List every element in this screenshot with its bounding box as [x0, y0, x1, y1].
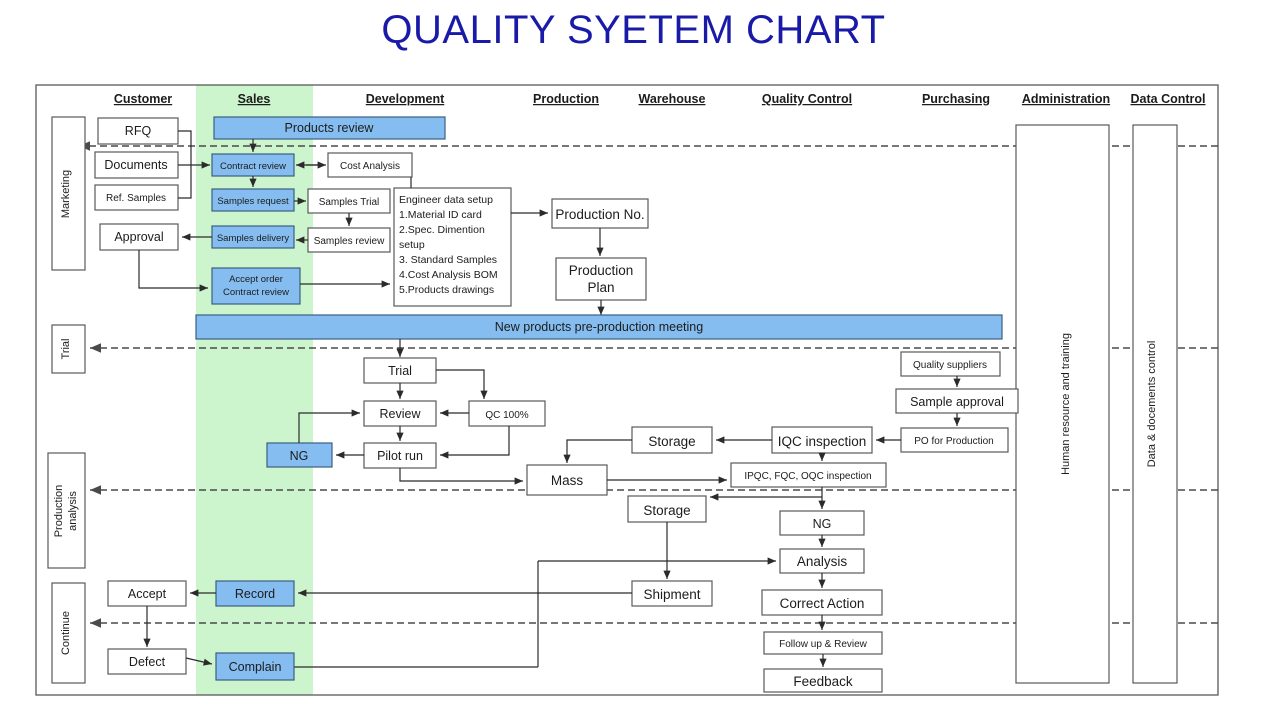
node-label-accept-order: Accept order: [229, 274, 283, 285]
node-label-record: Record: [235, 587, 275, 601]
node-label-samples-delivery: Samples delivery: [217, 233, 290, 244]
node-pre-production-meeting[interactable]: New products pre-production meeting: [196, 315, 1002, 339]
edge-storage-upper-to-mass: [567, 440, 632, 463]
node-label-approval: Approval: [114, 230, 163, 244]
node-pilot-run[interactable]: Pilot run: [364, 443, 436, 468]
node-label-accept: Accept: [128, 587, 167, 601]
node-follow-up-review[interactable]: Follow up & Review: [764, 632, 882, 654]
node-label-qc-100: QC 100%: [485, 410, 528, 421]
node-label-mass: Mass: [551, 473, 584, 488]
node-label-rfq: RFQ: [125, 124, 152, 138]
column-header-data-control: Data Control: [1131, 92, 1206, 106]
node-correct-action[interactable]: Correct Action: [762, 590, 882, 615]
node-storage-lower[interactable]: Storage: [628, 496, 706, 522]
node-po-for-production[interactable]: PO for Production: [901, 428, 1008, 452]
engineer-line-3: setup: [399, 239, 425, 251]
node-label-correct-action: Correct Action: [780, 596, 865, 611]
node-approval[interactable]: Approval: [100, 224, 178, 250]
node-iqc-inspection[interactable]: IQC inspection: [772, 427, 872, 453]
node-samples-review[interactable]: Samples review: [308, 228, 390, 252]
node-label-shipment: Shipment: [643, 587, 700, 602]
node-review[interactable]: Review: [364, 401, 436, 426]
node-label-accept-order-2: Contract review: [223, 287, 289, 298]
node-label-pre-production-meeting: New products pre-production meeting: [495, 320, 703, 334]
node-trial[interactable]: Trial: [364, 358, 436, 383]
node-documents[interactable]: Documents: [95, 152, 178, 178]
node-qc-100[interactable]: QC 100%: [469, 401, 545, 426]
node-label-ng-trial: NG: [290, 449, 309, 463]
node-products-review[interactable]: Products review: [214, 117, 445, 139]
node-storage-upper[interactable]: Storage: [632, 427, 712, 453]
column-header-quality-control: Quality Control: [762, 92, 852, 106]
node-production-plan[interactable]: Production Plan: [556, 258, 646, 300]
node-label-review: Review: [380, 407, 422, 421]
lane-label-human-resource: Human resource and training: [1060, 333, 1072, 475]
node-label-analysis: Analysis: [797, 554, 848, 569]
node-rfq[interactable]: RFQ: [98, 118, 178, 144]
node-label-cost-analysis: Cost Analysis: [340, 161, 400, 172]
node-production-no[interactable]: Production No.: [552, 199, 648, 228]
node-label-feedback: Feedback: [793, 674, 853, 689]
node-label-ref-samples: Ref. Samples: [106, 193, 166, 204]
node-accept-order-contract-review[interactable]: Accept order Contract review: [212, 268, 300, 304]
phase-lane-production-analysis: Production analysis Production analysis: [48, 453, 85, 568]
node-label-complain: Complain: [229, 660, 282, 674]
column-header-development: Development: [366, 92, 445, 106]
node-label-storage-lower: Storage: [643, 503, 690, 518]
node-samples-trial[interactable]: Samples Trial: [308, 189, 390, 213]
engineer-line-0: Engineer data setup: [399, 194, 493, 206]
node-contract-review[interactable]: Contract review: [212, 154, 294, 176]
node-shipment[interactable]: Shipment: [632, 581, 712, 606]
node-label-ipqc-fqc-oqc: IPQC, FQC, OQC inspection: [744, 471, 871, 482]
engineer-line-4: 3. Standard Samples: [399, 254, 497, 266]
node-label-production-no: Production No.: [555, 207, 644, 222]
column-header-sales: Sales: [238, 92, 271, 106]
node-label-contract-review: Contract review: [220, 161, 286, 172]
node-label-pilot-run: Pilot run: [377, 449, 423, 463]
node-mass[interactable]: Mass: [527, 465, 607, 495]
node-label-samples-request: Samples request: [217, 196, 289, 207]
node-defect[interactable]: Defect: [108, 649, 186, 674]
node-samples-delivery[interactable]: Samples delivery: [212, 226, 294, 248]
node-label-iqc-inspection: IQC inspection: [778, 434, 867, 449]
node-label-production-plan: Production: [569, 263, 634, 278]
node-label-products-review: Products review: [285, 121, 375, 135]
node-analysis[interactable]: Analysis: [780, 549, 864, 573]
node-complain[interactable]: Complain: [216, 653, 294, 680]
column-header-warehouse: Warehouse: [639, 92, 706, 106]
node-ng-trial[interactable]: NG: [267, 443, 332, 467]
node-label-samples-trial: Samples Trial: [319, 197, 380, 208]
edge-qc100-to-pilot-run: [440, 426, 509, 455]
node-label-defect: Defect: [129, 655, 166, 669]
engineer-line-6: 5.Products drawings: [399, 284, 494, 296]
phase-label-continue: Continue: [60, 611, 72, 655]
node-label-storage-upper: Storage: [648, 434, 695, 449]
flowchart-canvas: Customer Sales Development Production Wa…: [0, 0, 1267, 720]
phase-lane-continue: Continue: [52, 583, 85, 683]
node-ng-quality[interactable]: NG: [780, 511, 864, 535]
node-label-samples-review: Samples review: [314, 236, 385, 247]
node-label-po-for-production: PO for Production: [914, 436, 993, 447]
node-ref-samples[interactable]: Ref. Samples: [95, 185, 178, 210]
edge-pilot-run-to-mass: [400, 468, 523, 481]
node-label-documents: Documents: [104, 158, 167, 172]
column-header-production: Production: [533, 92, 599, 106]
phase-lane-trial: Trial: [52, 325, 85, 373]
quality-system-chart: QUALITY SYETEM CHART Customer Sales Deve…: [0, 0, 1267, 720]
lane-label-data-documents: Data & docements control: [1146, 341, 1158, 468]
node-sample-approval[interactable]: Sample approval: [896, 389, 1018, 413]
lane-human-resource-and-training: Human resource and training: [1016, 125, 1109, 683]
node-label-trial: Trial: [388, 364, 412, 378]
node-label-follow-up-review: Follow up & Review: [779, 639, 868, 650]
lane-data-and-documents-control: Data & docements control: [1133, 125, 1177, 683]
node-samples-request[interactable]: Samples request: [212, 189, 294, 211]
node-ipqc-fqc-oqc-inspection[interactable]: IPQC, FQC, OQC inspection: [731, 463, 886, 487]
node-quality-suppliers[interactable]: Quality suppliers: [901, 352, 1000, 376]
node-cost-analysis[interactable]: Cost Analysis: [328, 153, 412, 177]
engineer-line-1: 1.Material ID card: [399, 209, 482, 221]
node-label-quality-suppliers: Quality suppliers: [913, 360, 987, 371]
edge-trial-to-qc100: [436, 370, 484, 399]
phase-label-trial: Trial: [60, 339, 72, 360]
node-feedback[interactable]: Feedback: [764, 669, 882, 692]
node-label-ng-quality: NG: [813, 517, 832, 531]
column-header-customer: Customer: [114, 92, 172, 106]
column-header-purchasing: Purchasing: [922, 92, 990, 106]
node-label-sample-approval: Sample approval: [910, 395, 1004, 409]
engineer-line-5: 4.Cost Analysis BOM: [399, 269, 498, 281]
phase-label-marketing: Marketing: [60, 170, 72, 218]
phase-label-production-analysis-b: analysis: [67, 491, 79, 531]
engineer-line-2: 2.Spec. Dimention: [399, 224, 485, 236]
node-label-production-plan-2: Plan: [587, 280, 614, 295]
node-accept[interactable]: Accept: [108, 581, 186, 606]
node-record[interactable]: Record: [216, 581, 294, 606]
node-engineer-data-setup[interactable]: Engineer data setup 1.Material ID card 2…: [394, 188, 511, 306]
phase-lane-marketing: Marketing: [52, 117, 85, 270]
column-header-administration: Administration: [1022, 92, 1110, 106]
phase-label-production-analysis-a: Production: [53, 485, 65, 538]
